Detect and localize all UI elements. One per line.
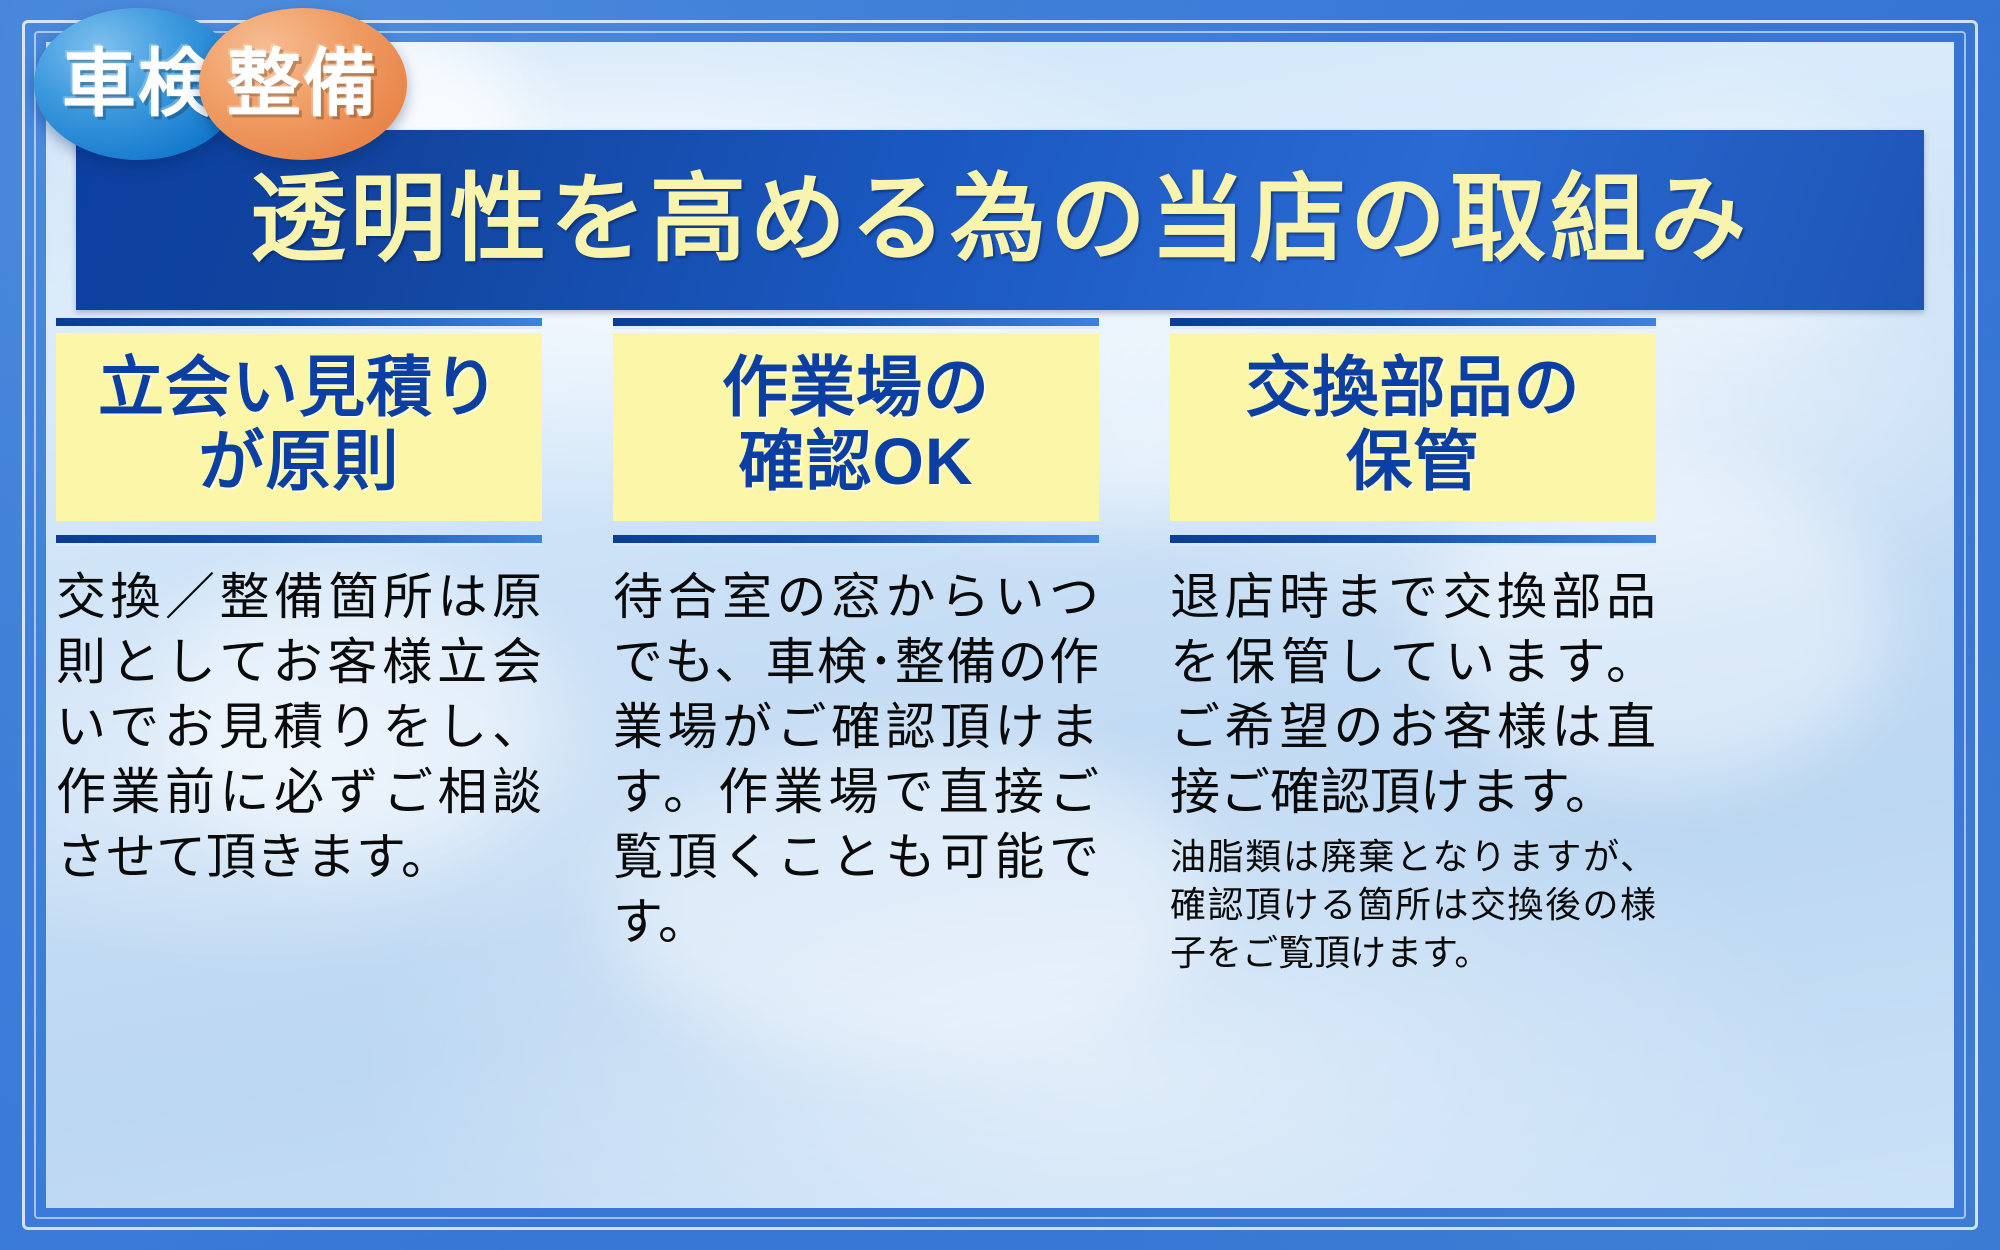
heading-line: 立会い見積り xyxy=(56,351,542,425)
heading-line: 確認OK xyxy=(613,425,1099,499)
heading-line: 保管 xyxy=(1170,425,1656,499)
badge-seibi: 整備 xyxy=(199,8,407,160)
badge-shaken-label: 車検 xyxy=(62,47,214,121)
poster-root: 透明性を高める為の当店の取組み 車検 整備 立会い見積り が原則 交換／整備箇所… xyxy=(0,0,2000,1250)
column-bottom-rule xyxy=(56,535,542,547)
column-body-3: 退店時まで交換部品を保管しています。ご希望のお客様は直接ご確認頂けます。 xyxy=(1170,565,1656,825)
heading-line: 作業場の xyxy=(613,351,1099,425)
column-body-1: 交換／整備箇所は原則としてお客様立会いでお見積りをし、作業前に必ずご相談させて頂… xyxy=(56,565,542,890)
column-note-3: 油脂類は廃棄となりますが、確認頂ける箇所は交換後の様子をご覧頂けます。 xyxy=(1170,833,1656,977)
heading-box-3: 交換部品の 保管 xyxy=(1170,333,1656,521)
column-sagyouba-kakunin: 作業場の 確認OK 待合室の窓からいつでも、車検･整備の作業場がご確認頂けます。… xyxy=(613,318,1099,1198)
column-body-2: 待合室の窓からいつでも、車検･整備の作業場がご確認頂けます。作業場で直接ご覧頂く… xyxy=(613,565,1099,955)
badge-seibi-label: 整備 xyxy=(227,47,379,121)
column-top-rule xyxy=(1170,318,1656,330)
heading-box-1: 立会い見積り が原則 xyxy=(56,333,542,521)
columns-container: 立会い見積り が原則 交換／整備箇所は原則としてお客様立会いでお見積りをし、作業… xyxy=(50,318,1950,1198)
heading-line: 交換部品の xyxy=(1170,351,1656,425)
heading-line: が原則 xyxy=(56,425,542,499)
column-bottom-rule xyxy=(613,535,1099,547)
column-koukan-buhin-hokan: 交換部品の 保管 退店時まで交換部品を保管しています。ご希望のお客様は直接ご確認… xyxy=(1170,318,1656,1198)
column-tachiai-mitsumori: 立会い見積り が原則 交換／整備箇所は原則としてお客様立会いでお見積りをし、作業… xyxy=(56,318,542,1198)
column-top-rule xyxy=(56,318,542,330)
heading-box-2: 作業場の 確認OK xyxy=(613,333,1099,521)
title-bar: 透明性を高める為の当店の取組み xyxy=(76,130,1924,310)
column-bottom-rule xyxy=(1170,535,1656,547)
page-title: 透明性を高める為の当店の取組み xyxy=(250,172,1750,268)
column-top-rule xyxy=(613,318,1099,330)
